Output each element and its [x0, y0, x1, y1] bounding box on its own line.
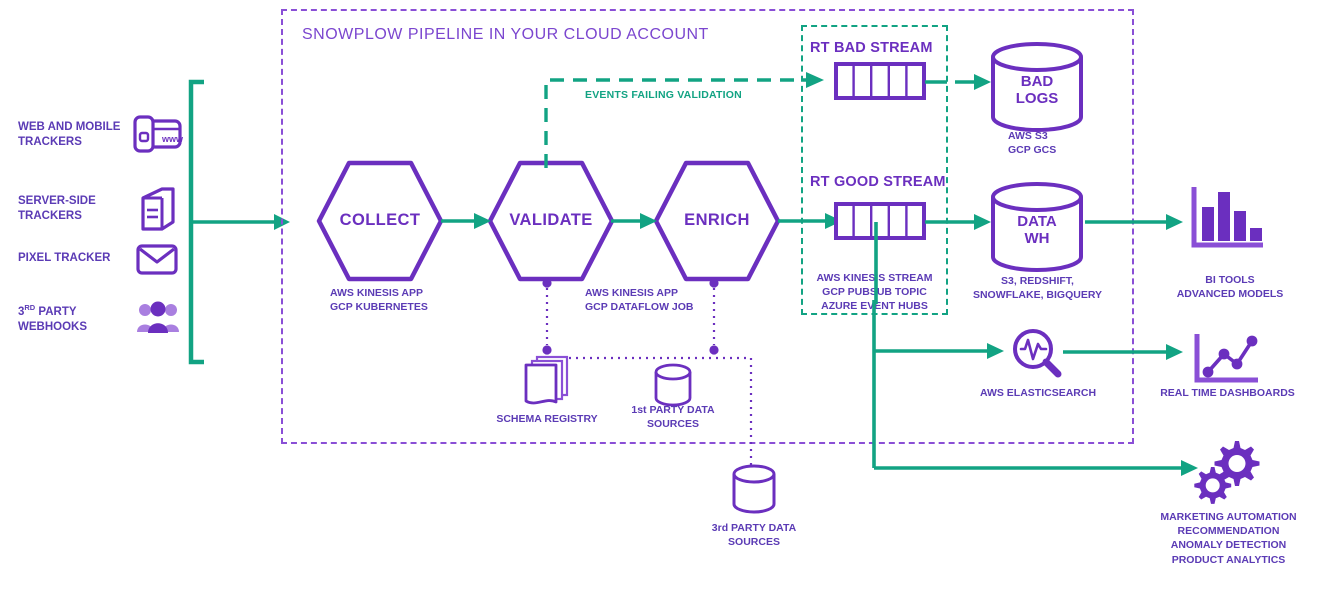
stage-validate-caption: AWS KINESIS APP GCP DATAFLOW JOB — [585, 286, 755, 314]
rt-bad-stream-box[interactable] — [834, 62, 926, 100]
pipeline-container-title: SNOWPLOW PIPELINE IN YOUR CLOUD ACCOUNT — [302, 26, 709, 44]
marketing-automation-label: MARKETING AUTOMATION RECOMMENDATION ANOM… — [1140, 510, 1317, 567]
bad-logs-caption: AWS S3 GCP GCS — [970, 129, 1148, 157]
arrow-good-stream-to-data-wh — [925, 212, 993, 232]
caption-line1: AWS KINESIS APP — [330, 286, 490, 300]
bad-logs-label: BAD LOGS — [989, 73, 1085, 108]
elasticsearch-label: AWS ELASTICSEARCH — [965, 386, 1111, 400]
stage-validate-label: VALIDATE — [487, 211, 615, 230]
failing-validation-label: EVENTS FAILING VALIDATION — [585, 89, 742, 101]
arrow-bad-stream-to-bad-logs — [925, 72, 993, 92]
rt-good-stream-title: RT GOOD STREAM — [810, 174, 946, 190]
label-line2: LOGS — [989, 90, 1085, 107]
people-icon — [136, 298, 180, 334]
label-line1: BAD — [989, 73, 1085, 90]
arrow-validate-to-enrich — [611, 211, 659, 231]
bar-chart-icon — [1189, 185, 1267, 251]
source-label-third-party-webhooks: 3RD PARTY WEBHOOKS — [18, 303, 133, 335]
label-line1: DATA — [989, 213, 1085, 230]
label-line4: PRODUCT ANALYTICS — [1140, 553, 1317, 567]
data-wh-caption: S3, REDSHIFT, SNOWFLAKE, BIGQUERY — [965, 274, 1110, 302]
source-label-line1: PIXEL TRACKER — [18, 251, 133, 266]
source-label-server-side: SERVER-SIDE TRACKERS — [18, 194, 128, 224]
source-label-line1: 3RD PARTY — [18, 303, 133, 320]
label-line2: WH — [989, 230, 1085, 247]
label-line2: SOURCES — [694, 535, 814, 549]
label-line1: MARKETING AUTOMATION — [1140, 510, 1317, 524]
label-line3: ANOMALY DETECTION — [1140, 538, 1317, 552]
caption-line1: AWS S3 — [1008, 129, 1148, 143]
diagram-canvas: WEB AND MOBILE TRACKERS www SERVER-SIDE … — [0, 0, 1317, 592]
magnifier-pulse-icon — [1008, 327, 1066, 379]
sources-bracket — [186, 72, 296, 372]
first-party-connector — [705, 278, 723, 356]
label-line2: ADVANCED MODELS — [1150, 287, 1310, 301]
source-label-pixel-tracker: PIXEL TRACKER — [18, 251, 133, 266]
label-line1: BI TOOLS — [1150, 273, 1310, 287]
failing-validation-path — [540, 72, 840, 172]
bi-tools-label: BI TOOLS ADVANCED MODELS — [1150, 273, 1310, 301]
schema-registry-connector — [538, 278, 556, 356]
caption-line2: GCP GCS — [1008, 143, 1148, 157]
label-line2: RECOMMENDATION — [1140, 524, 1317, 538]
caption-line2: GCP KUBERNETES — [330, 300, 490, 314]
rt-good-stream-box[interactable] — [834, 202, 926, 240]
source-label-line1: SERVER-SIDE — [18, 194, 128, 209]
caption-line1: AWS KINESIS APP — [585, 286, 755, 300]
stage-collect-label: COLLECT — [316, 211, 444, 230]
source-label-line2: TRACKERS — [18, 135, 128, 150]
stage-enrich-label: ENRICH — [653, 211, 781, 230]
envelope-icon — [136, 243, 178, 275]
third-party-label: 3rd PARTY DATA SOURCES — [694, 521, 814, 549]
source-label-line2: WEBHOOKS — [18, 320, 133, 335]
arrow-collect-to-validate — [441, 211, 493, 231]
source-label-web-mobile: WEB AND MOBILE TRACKERS — [18, 120, 128, 150]
rt-bad-stream-title: RT BAD STREAM — [810, 40, 933, 56]
source-label-line2: TRACKERS — [18, 209, 128, 224]
caption-line2: GCP DATAFLOW JOB — [585, 300, 755, 314]
gears-icon — [1191, 437, 1263, 509]
data-wh-label: DATA WH — [989, 213, 1085, 248]
good-stream-drop-line — [872, 222, 880, 304]
arrow-data-wh-to-bi-tools — [1085, 212, 1185, 232]
line-chart-icon — [1192, 332, 1264, 386]
caption-line1: S3, REDSHIFT, — [965, 274, 1110, 288]
mobile-web-icon: www — [132, 115, 182, 160]
svg-text:www: www — [161, 134, 184, 144]
third-party-cylinder-icon — [729, 462, 779, 516]
arrow-es-to-dashboards — [1063, 342, 1185, 362]
label-line1: 3rd PARTY DATA — [694, 521, 814, 535]
third-party-connector — [566, 346, 766, 476]
stage-collect-caption: AWS KINESIS APP GCP KUBERNETES — [300, 286, 490, 314]
source-label-line1: WEB AND MOBILE — [18, 120, 128, 135]
dashboards-label: REAL TIME DASHBOARDS — [1145, 386, 1310, 400]
server-icon — [138, 186, 178, 232]
